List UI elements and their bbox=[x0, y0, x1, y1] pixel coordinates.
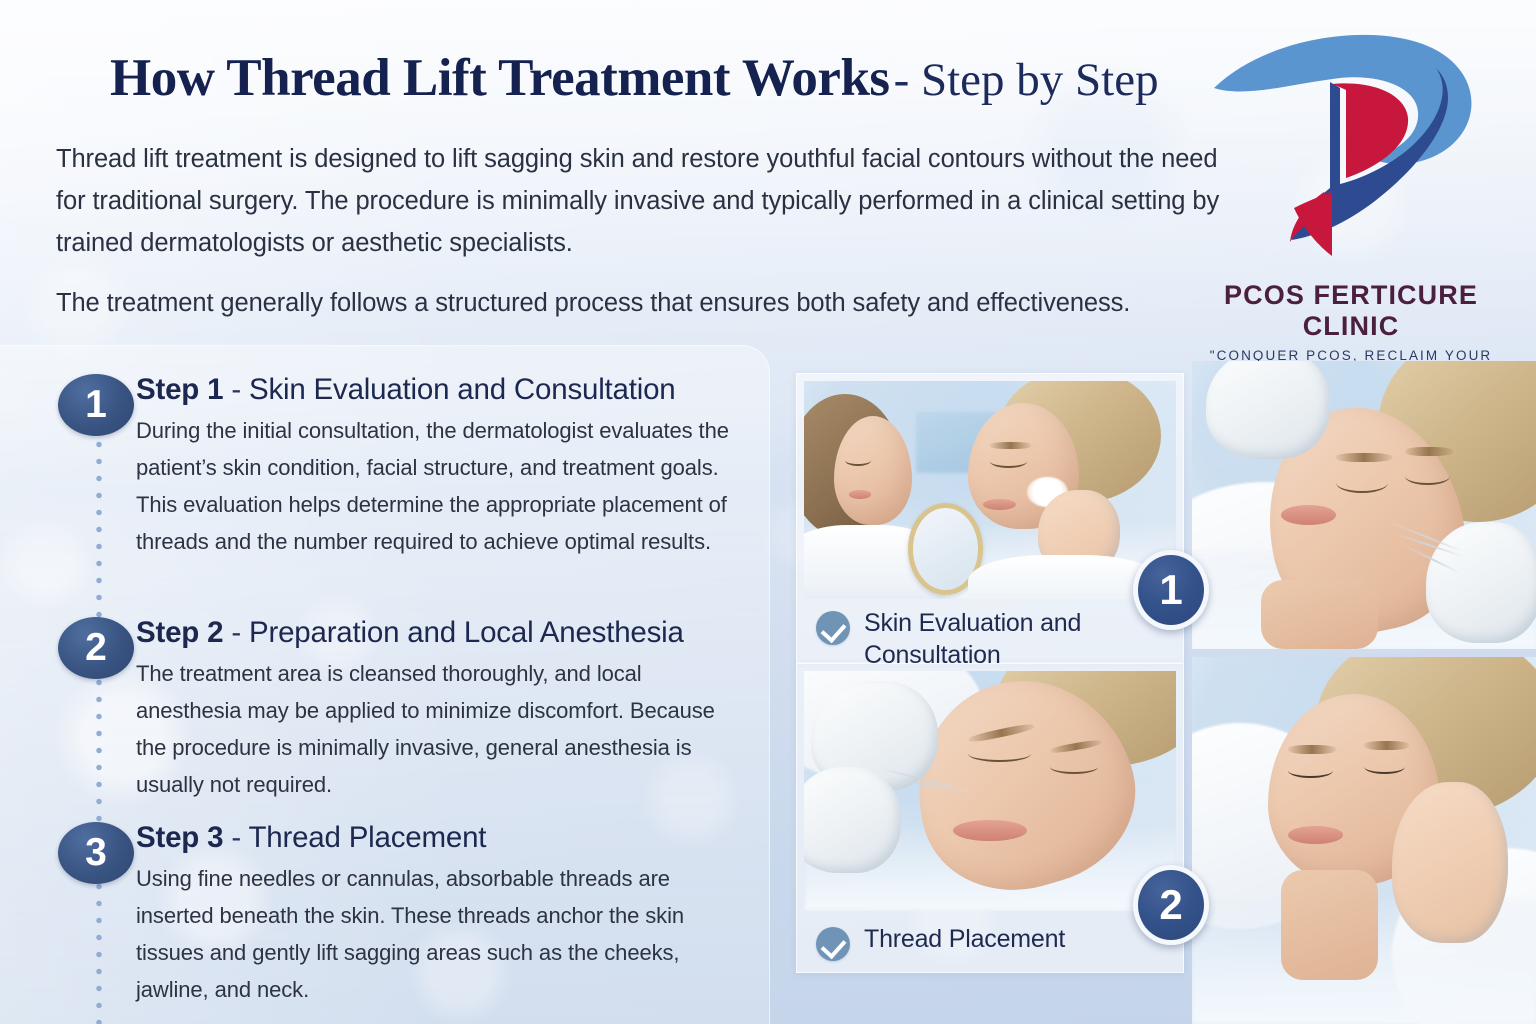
step-number-badge: 3 bbox=[58, 822, 134, 884]
intro-paragraph-2: The treatment generally follows a struct… bbox=[56, 282, 1221, 324]
step-description: The treatment area is cleansed thoroughl… bbox=[136, 655, 736, 803]
step-dash: - bbox=[223, 373, 249, 406]
caption-label: Thread Placement bbox=[864, 923, 1065, 955]
step-dash: - bbox=[223, 821, 248, 854]
photo-thread-placement bbox=[804, 671, 1176, 911]
step-number-badge: 2 bbox=[58, 617, 134, 679]
caption-skin-evaluation: Skin Evaluation and Consultation bbox=[816, 607, 1156, 671]
infographic-poster: How Thread Lift Treatment Works- Step by… bbox=[0, 0, 1536, 1024]
step-heading: Step 3 - Thread Placement bbox=[136, 818, 758, 858]
photo-marker-2: 2 bbox=[1133, 865, 1209, 945]
photo-marker-1: 1 bbox=[1133, 550, 1209, 630]
step-title: Preparation and Local Anesthesia bbox=[249, 616, 684, 649]
photo-treatment-result bbox=[1192, 657, 1536, 1024]
step-heading: Step 2 - Preparation and Local Anesthesi… bbox=[136, 613, 758, 653]
page-title-main: How Thread Lift Treatment Works bbox=[110, 49, 890, 107]
step-number-badge: 1 bbox=[58, 374, 134, 436]
step-title: Skin Evaluation and Consultation bbox=[249, 373, 676, 406]
step-heading: Step 1 - Skin Evaluation and Consultatio… bbox=[136, 370, 758, 410]
intro-paragraph-1: Thread lift treatment is designed to lif… bbox=[56, 138, 1221, 264]
intro-block: Thread lift treatment is designed to lif… bbox=[56, 138, 1221, 324]
step-description: During the initial consultation, the der… bbox=[136, 412, 736, 560]
step-label: Step 3 bbox=[136, 821, 223, 854]
brand-logo-block: PCOS FERTICURE CLINIC "CONQUER PCOS, REC… bbox=[1180, 26, 1522, 346]
step-description: Using fine needles or cannulas, absorbab… bbox=[136, 860, 716, 1008]
photo-thread-temple bbox=[1192, 361, 1536, 649]
check-circle-icon bbox=[816, 927, 850, 961]
step-title: Thread Placement bbox=[248, 821, 486, 854]
step-label: Step 2 bbox=[136, 616, 223, 649]
page-title-sub: - Step by Step bbox=[894, 54, 1159, 106]
check-circle-icon bbox=[816, 611, 850, 645]
page-title: How Thread Lift Treatment Works- Step by… bbox=[110, 52, 1159, 105]
step-item-3: 3 Step 3 - Thread Placement Using fine n… bbox=[58, 818, 758, 1008]
pcos-ferticure-swoosh-logo-icon bbox=[1180, 26, 1522, 284]
brand-name: PCOS FERTICURE CLINIC bbox=[1180, 280, 1522, 342]
step-item-1: 1 Step 1 - Skin Evaluation and Consultat… bbox=[58, 370, 758, 560]
step-item-2: 2 Step 2 - Preparation and Local Anesthe… bbox=[58, 613, 758, 803]
caption-label: Skin Evaluation and Consultation bbox=[864, 607, 1156, 671]
caption-thread-placement: Thread Placement bbox=[816, 923, 1156, 961]
step-label: Step 1 bbox=[136, 373, 223, 406]
step-dash: - bbox=[223, 616, 249, 649]
photo-consultation bbox=[804, 381, 1176, 599]
photo-gallery: Skin Evaluation and Consultation Thread … bbox=[780, 345, 1536, 1024]
